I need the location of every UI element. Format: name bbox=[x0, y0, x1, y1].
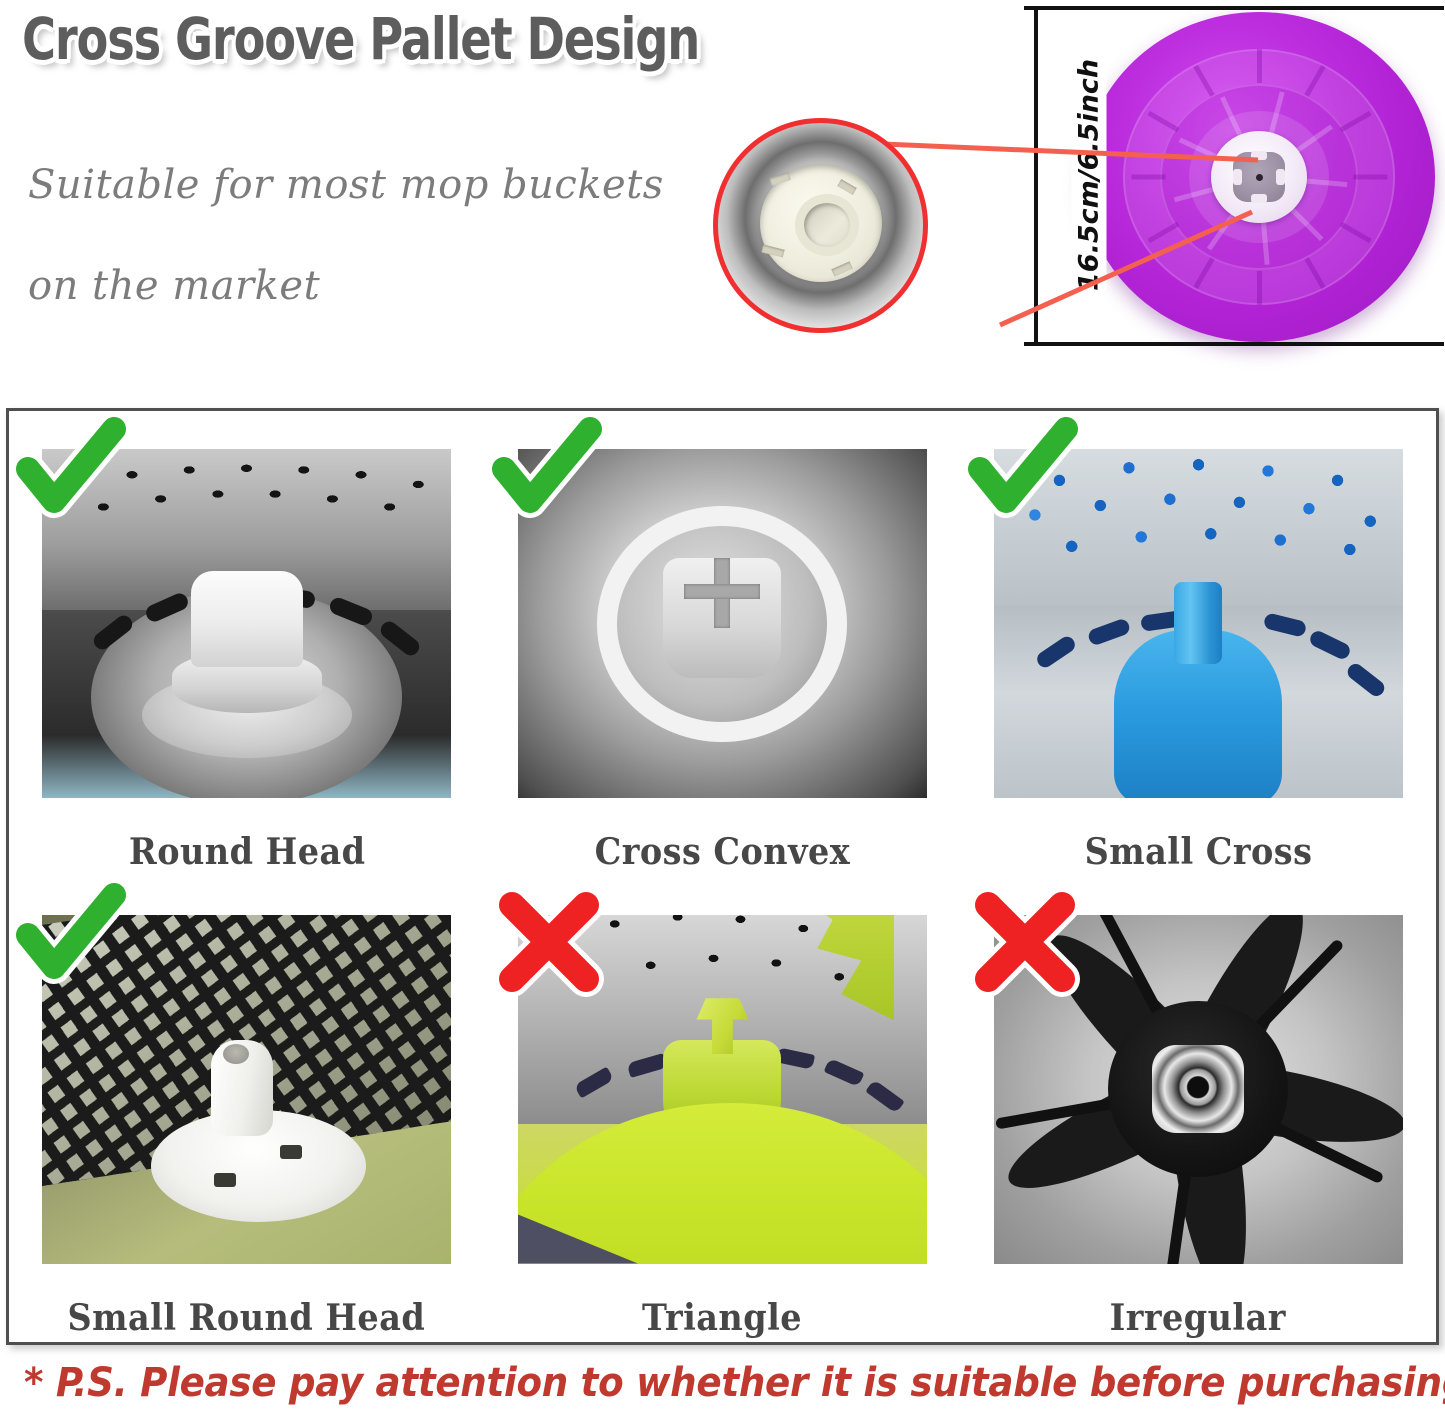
cell-label: Small Cross bbox=[1084, 831, 1312, 873]
compat-cell-triangle: Triangle bbox=[485, 877, 961, 1343]
compat-cell-round-head: Round Head bbox=[9, 411, 485, 877]
flange-vent bbox=[280, 1145, 302, 1159]
fan-hub-star-center bbox=[1152, 1045, 1244, 1133]
header-section: Cross Groove Pallet Design Suitable for … bbox=[0, 0, 1445, 390]
small-cross-spindle bbox=[1174, 582, 1222, 664]
drum-slot bbox=[1345, 661, 1388, 699]
cell-label: Cross Convex bbox=[595, 831, 851, 873]
photo-wrap bbox=[518, 915, 927, 1264]
bracket-vertical-line bbox=[1034, 6, 1038, 346]
drum-slot bbox=[1086, 617, 1131, 646]
photo-wrap bbox=[518, 449, 927, 798]
subtitle-line-2: on the market bbox=[28, 263, 320, 309]
footer-note: * P.S. Please pay attention to whether i… bbox=[24, 1360, 1335, 1406]
cell-label: Round Head bbox=[129, 831, 366, 873]
compat-cell-cross-convex: Cross Convex bbox=[485, 411, 961, 877]
cell-label: Triangle bbox=[642, 1297, 802, 1339]
red-cross-icon bbox=[490, 883, 608, 1001]
red-cross-icon bbox=[966, 883, 1084, 1001]
compat-cell-irregular: Irregular bbox=[960, 877, 1436, 1343]
dimension-bracket: 16.5cm/6.5inch bbox=[1024, 6, 1444, 346]
cross-convex-nut bbox=[663, 558, 781, 678]
pallet-round-head bbox=[191, 571, 303, 667]
photo-wrap bbox=[42, 915, 451, 1264]
drum-slot bbox=[1262, 612, 1307, 638]
flange-vent bbox=[214, 1173, 236, 1187]
dimension-label: 16.5cm/6.5inch bbox=[1072, 61, 1107, 291]
subtitle-line-1: Suitable for most mop buckets bbox=[28, 162, 664, 208]
drum-slot bbox=[1034, 634, 1078, 671]
bracket-cap-bottom bbox=[1024, 342, 1444, 346]
green-check-icon bbox=[490, 417, 608, 535]
cross-groove-socket bbox=[795, 194, 859, 256]
cell-label: Irregular bbox=[1110, 1297, 1286, 1339]
nipple-bore bbox=[223, 1044, 249, 1064]
photo-wrap bbox=[994, 915, 1403, 1264]
cross-groove-horizontal bbox=[684, 584, 760, 599]
photo-wrap bbox=[994, 449, 1403, 798]
compatibility-panel: Round Head Cross Conv bbox=[6, 408, 1439, 1345]
lime-bucket-rim bbox=[518, 1103, 927, 1264]
drum-slot bbox=[1307, 629, 1352, 662]
green-check-icon bbox=[14, 417, 132, 535]
bracket-cap-top bbox=[1024, 6, 1444, 10]
compat-cell-small-cross: Small Cross bbox=[960, 411, 1436, 877]
compat-cell-small-round-head: Small Round Head bbox=[9, 877, 485, 1343]
compatibility-grid: Round Head Cross Conv bbox=[9, 411, 1436, 1342]
photo-wrap bbox=[42, 449, 451, 798]
cell-label: Small Round Head bbox=[68, 1297, 426, 1339]
page-title: Cross Groove Pallet Design bbox=[22, 8, 699, 70]
zoom-detail-circle-icon bbox=[713, 118, 928, 333]
green-check-icon bbox=[14, 883, 132, 1001]
green-check-icon bbox=[966, 417, 1084, 535]
